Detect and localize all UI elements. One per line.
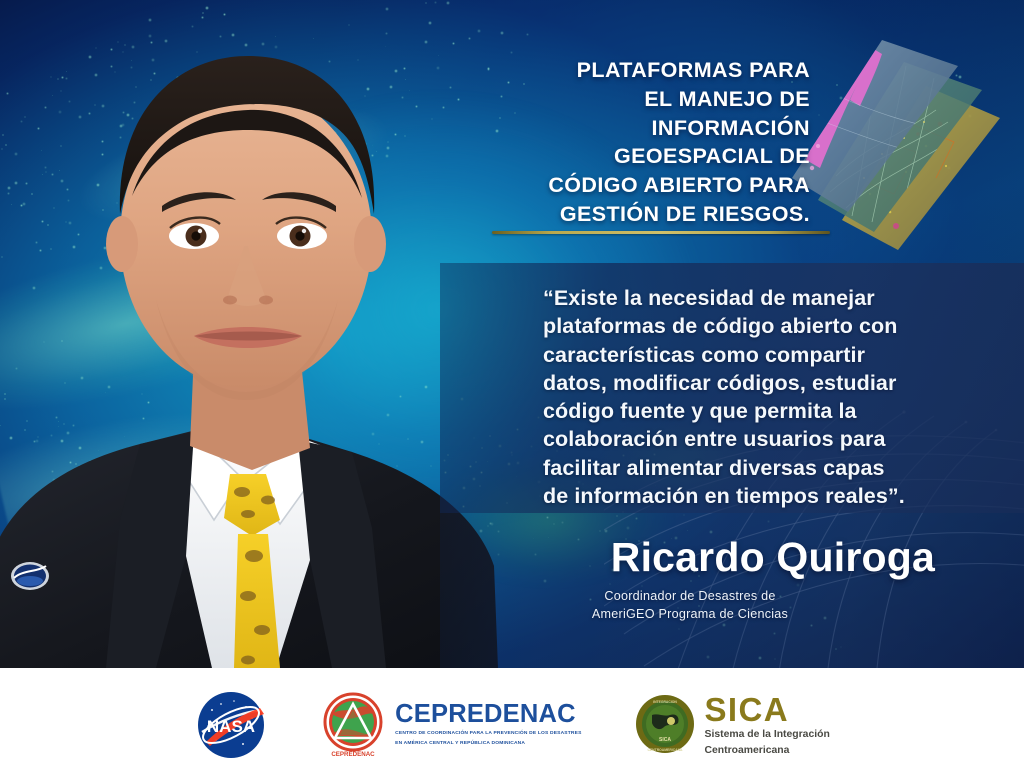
cepredenac-logo: CEPREDENAC CEPREDENAC CENTRO DE COORDINA… [320, 690, 581, 760]
speaker-name: Ricardo Quiroga [440, 534, 935, 581]
title-line-3: INFORMACIÓN [470, 114, 810, 143]
speaker-role: Coordinador de Desastres de AmeriGEO Pro… [440, 588, 940, 624]
quote-line-1: “Existe la necesidad de manejar [543, 284, 973, 312]
quote-text: “Existe la necesidad de manejar platafor… [543, 284, 973, 510]
footer-logo-bar: NASA CEPREDENAC CEPREDENAC CENTRO DE COO… [0, 668, 1024, 782]
nasa-wordmark: NASA [207, 717, 255, 736]
nasa-lapel-pin [11, 562, 49, 590]
quote-line-6: colaboración entre usuarios para [543, 425, 973, 453]
quote-line-2: plataformas de código abierto con [543, 312, 973, 340]
gold-divider [492, 231, 830, 234]
sica-emblem-icon: INTEGRACION CENTROAMERICANA SICA [634, 693, 696, 757]
quote-line-3: características como compartir [543, 341, 973, 369]
poster-root: PLATAFORMAS PARA EL MANEJO DE INFORMACIÓ… [0, 0, 1024, 782]
sica-subtitle-line-1: Sistema de la Integración [705, 728, 830, 742]
title-line-6: GESTIÓN DE RIESGOS. [470, 200, 810, 229]
svg-text:CENTROAMERICANA: CENTROAMERICANA [647, 748, 683, 752]
quote-line-7: facilitar alimentar diversas capas [543, 454, 973, 482]
cepredenac-wordmark: CEPREDENAC [395, 702, 581, 728]
nasa-logo: NASA [194, 688, 268, 762]
cepredenac-subtitle-line-2: EN AMÉRICA CENTRAL Y REPÚBLICA DOMINICAN… [395, 741, 581, 748]
nasa-meatball-icon: NASA [194, 688, 268, 762]
svg-text:INTEGRACION: INTEGRACION [653, 700, 677, 704]
title-line-2: EL MANEJO DE [470, 85, 810, 114]
sica-subtitle-line-2: Centroamericana [705, 744, 830, 758]
cepredenac-subtitle-line-1: CENTRO DE COORDINACIÓN PARA LA PREVENCIÓ… [395, 731, 581, 738]
poster-title: PLATAFORMAS PARA EL MANEJO DE INFORMACIÓ… [470, 56, 810, 229]
sica-logo: INTEGRACION CENTROAMERICANA SICA SICA Si… [634, 693, 830, 757]
cepredenac-emblem-icon: CEPREDENAC [320, 690, 386, 760]
quote-line-4: datos, modificar códigos, estudiar [543, 369, 973, 397]
quote-line-5: código fuente y que permita la [543, 397, 973, 425]
gis-layer-stack-graphic [786, 26, 1024, 258]
title-line-1: PLATAFORMAS PARA [470, 56, 810, 85]
speaker-role-line-2: AmeriGEO Programa de Ciencias [440, 606, 940, 624]
title-line-4: GEOESPACIAL DE [470, 142, 810, 171]
cepredenac-emblem-text: CEPREDENAC [332, 751, 376, 758]
speaker-role-line-1: Coordinador de Desastres de [440, 588, 940, 606]
sica-wordmark: SICA [705, 693, 830, 726]
sica-emblem-text: SICA [659, 737, 671, 743]
quote-line-8: de información en tiempos reales”. [543, 482, 973, 510]
title-line-5: CÓDIGO ABIERTO PARA [470, 171, 810, 200]
